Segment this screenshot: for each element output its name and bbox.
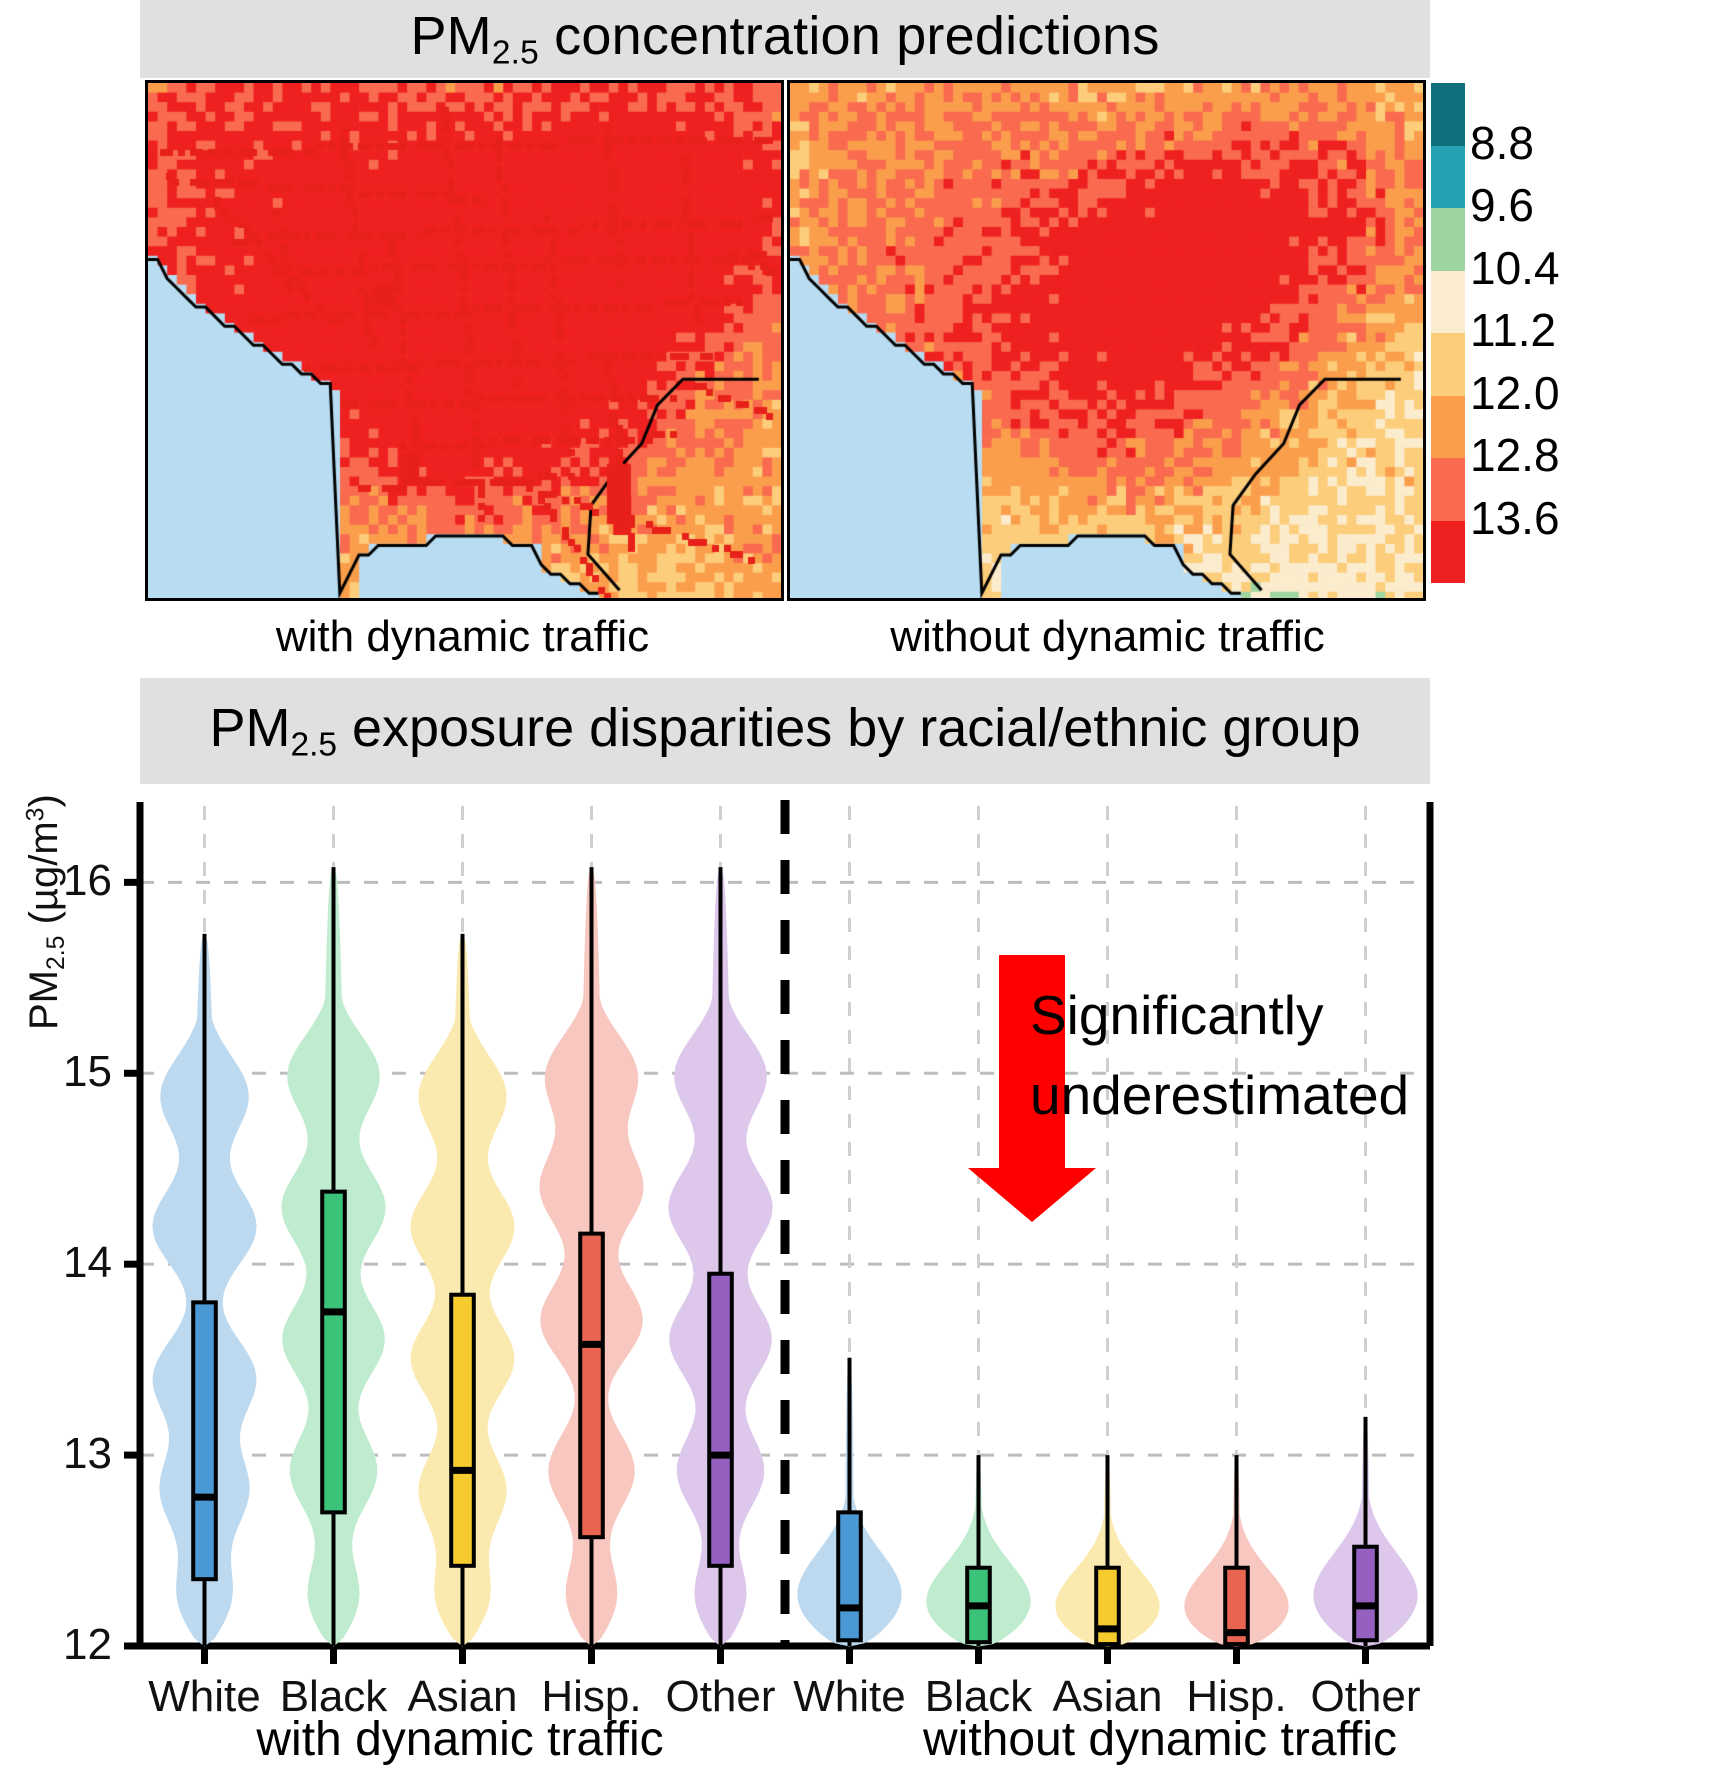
y-axis-title: PM2.5 (µg/m3) [22, 970, 71, 1030]
y-axis-tick-label: 15 [20, 1047, 112, 1097]
violin-title-subscript: 2.5 [290, 727, 337, 764]
maps-title-bar: PM2.5 concentration predictions [140, 0, 1430, 78]
box-plot-box [1096, 1568, 1119, 1644]
map-raster-right [790, 83, 1423, 598]
colorbar-tick-label: 13.6 [1470, 495, 1560, 541]
violin-plot-area [0, 784, 1719, 1786]
maps-title-text-main: PM [410, 6, 491, 66]
y-axis-tick-label: 13 [20, 1429, 112, 1479]
colorbar-segment [1431, 333, 1465, 396]
maps-panel-title: PM2.5 concentration predictions [410, 5, 1159, 72]
colorbar-segment [1431, 521, 1465, 584]
annotation-line-1: Significantly [1030, 985, 1323, 1047]
violin-right-caption: without dynamic traffic [800, 1712, 1520, 1767]
box-plot-box [580, 1234, 603, 1538]
box-plot-box [193, 1302, 216, 1579]
y-axis-unit-post: ) [22, 794, 66, 807]
y-axis-unit-sup: 3 [22, 808, 49, 822]
colorbar-tick-label: 12.8 [1470, 432, 1560, 478]
map-right-caption: without dynamic traffic [785, 612, 1430, 662]
box-plot-box [322, 1192, 345, 1513]
y-axis-tick-label: 14 [20, 1238, 112, 1288]
colorbar-segment [1431, 458, 1465, 521]
violin-title-bar: PM2.5 exposure disparities by racial/eth… [140, 678, 1430, 784]
box-plot-box [451, 1295, 474, 1566]
map-with-dynamic-traffic [145, 80, 784, 601]
violin-panel-title: PM2.5 exposure disparities by racial/eth… [209, 697, 1360, 764]
violin-left-caption: with dynamic traffic [120, 1712, 800, 1767]
box-plot-box [1354, 1547, 1377, 1641]
violin-plot-svg [0, 784, 1719, 1786]
box-plot-box [709, 1274, 732, 1566]
box-plot-box [838, 1512, 861, 1640]
colorbar-segment [1431, 271, 1465, 334]
colorbar-tick-label: 12.0 [1470, 370, 1560, 416]
colorbar-segment [1431, 83, 1465, 146]
violin-title-panel: PM2.5 exposure disparities by racial/eth… [140, 678, 1430, 786]
pm25-maps-panel: PM2.5 concentration predictions with dyn… [140, 0, 1430, 660]
map-raster-left [148, 83, 781, 598]
colorbar-tick-label: 8.8 [1470, 120, 1534, 166]
colorbar-tick-label: 11.2 [1470, 307, 1556, 353]
pm25-colorbar [1431, 83, 1465, 583]
colorbar-segment [1431, 208, 1465, 271]
y-axis-title-main: PM [22, 970, 66, 1030]
maps-title-subscript: 2.5 [492, 35, 539, 72]
colorbar-segment [1431, 146, 1465, 209]
colorbar-segment [1431, 396, 1465, 459]
violin-title-text-main: PM [209, 698, 290, 758]
annotation-line-2: underestimated [1030, 1065, 1409, 1127]
map-left-caption: with dynamic traffic [140, 612, 785, 662]
violin-title-text-rest: exposure disparities by racial/ethnic gr… [337, 698, 1361, 758]
y-axis-tick-label: 12 [20, 1620, 112, 1670]
colorbar-tick-label: 9.6 [1470, 182, 1534, 228]
maps-title-text-rest: concentration predictions [539, 6, 1160, 66]
y-axis-title-sub: 2.5 [43, 936, 70, 970]
map-without-dynamic-traffic [787, 80, 1426, 601]
y-axis-tick-label: 16 [20, 856, 112, 906]
colorbar-tick-label: 10.4 [1470, 245, 1560, 291]
